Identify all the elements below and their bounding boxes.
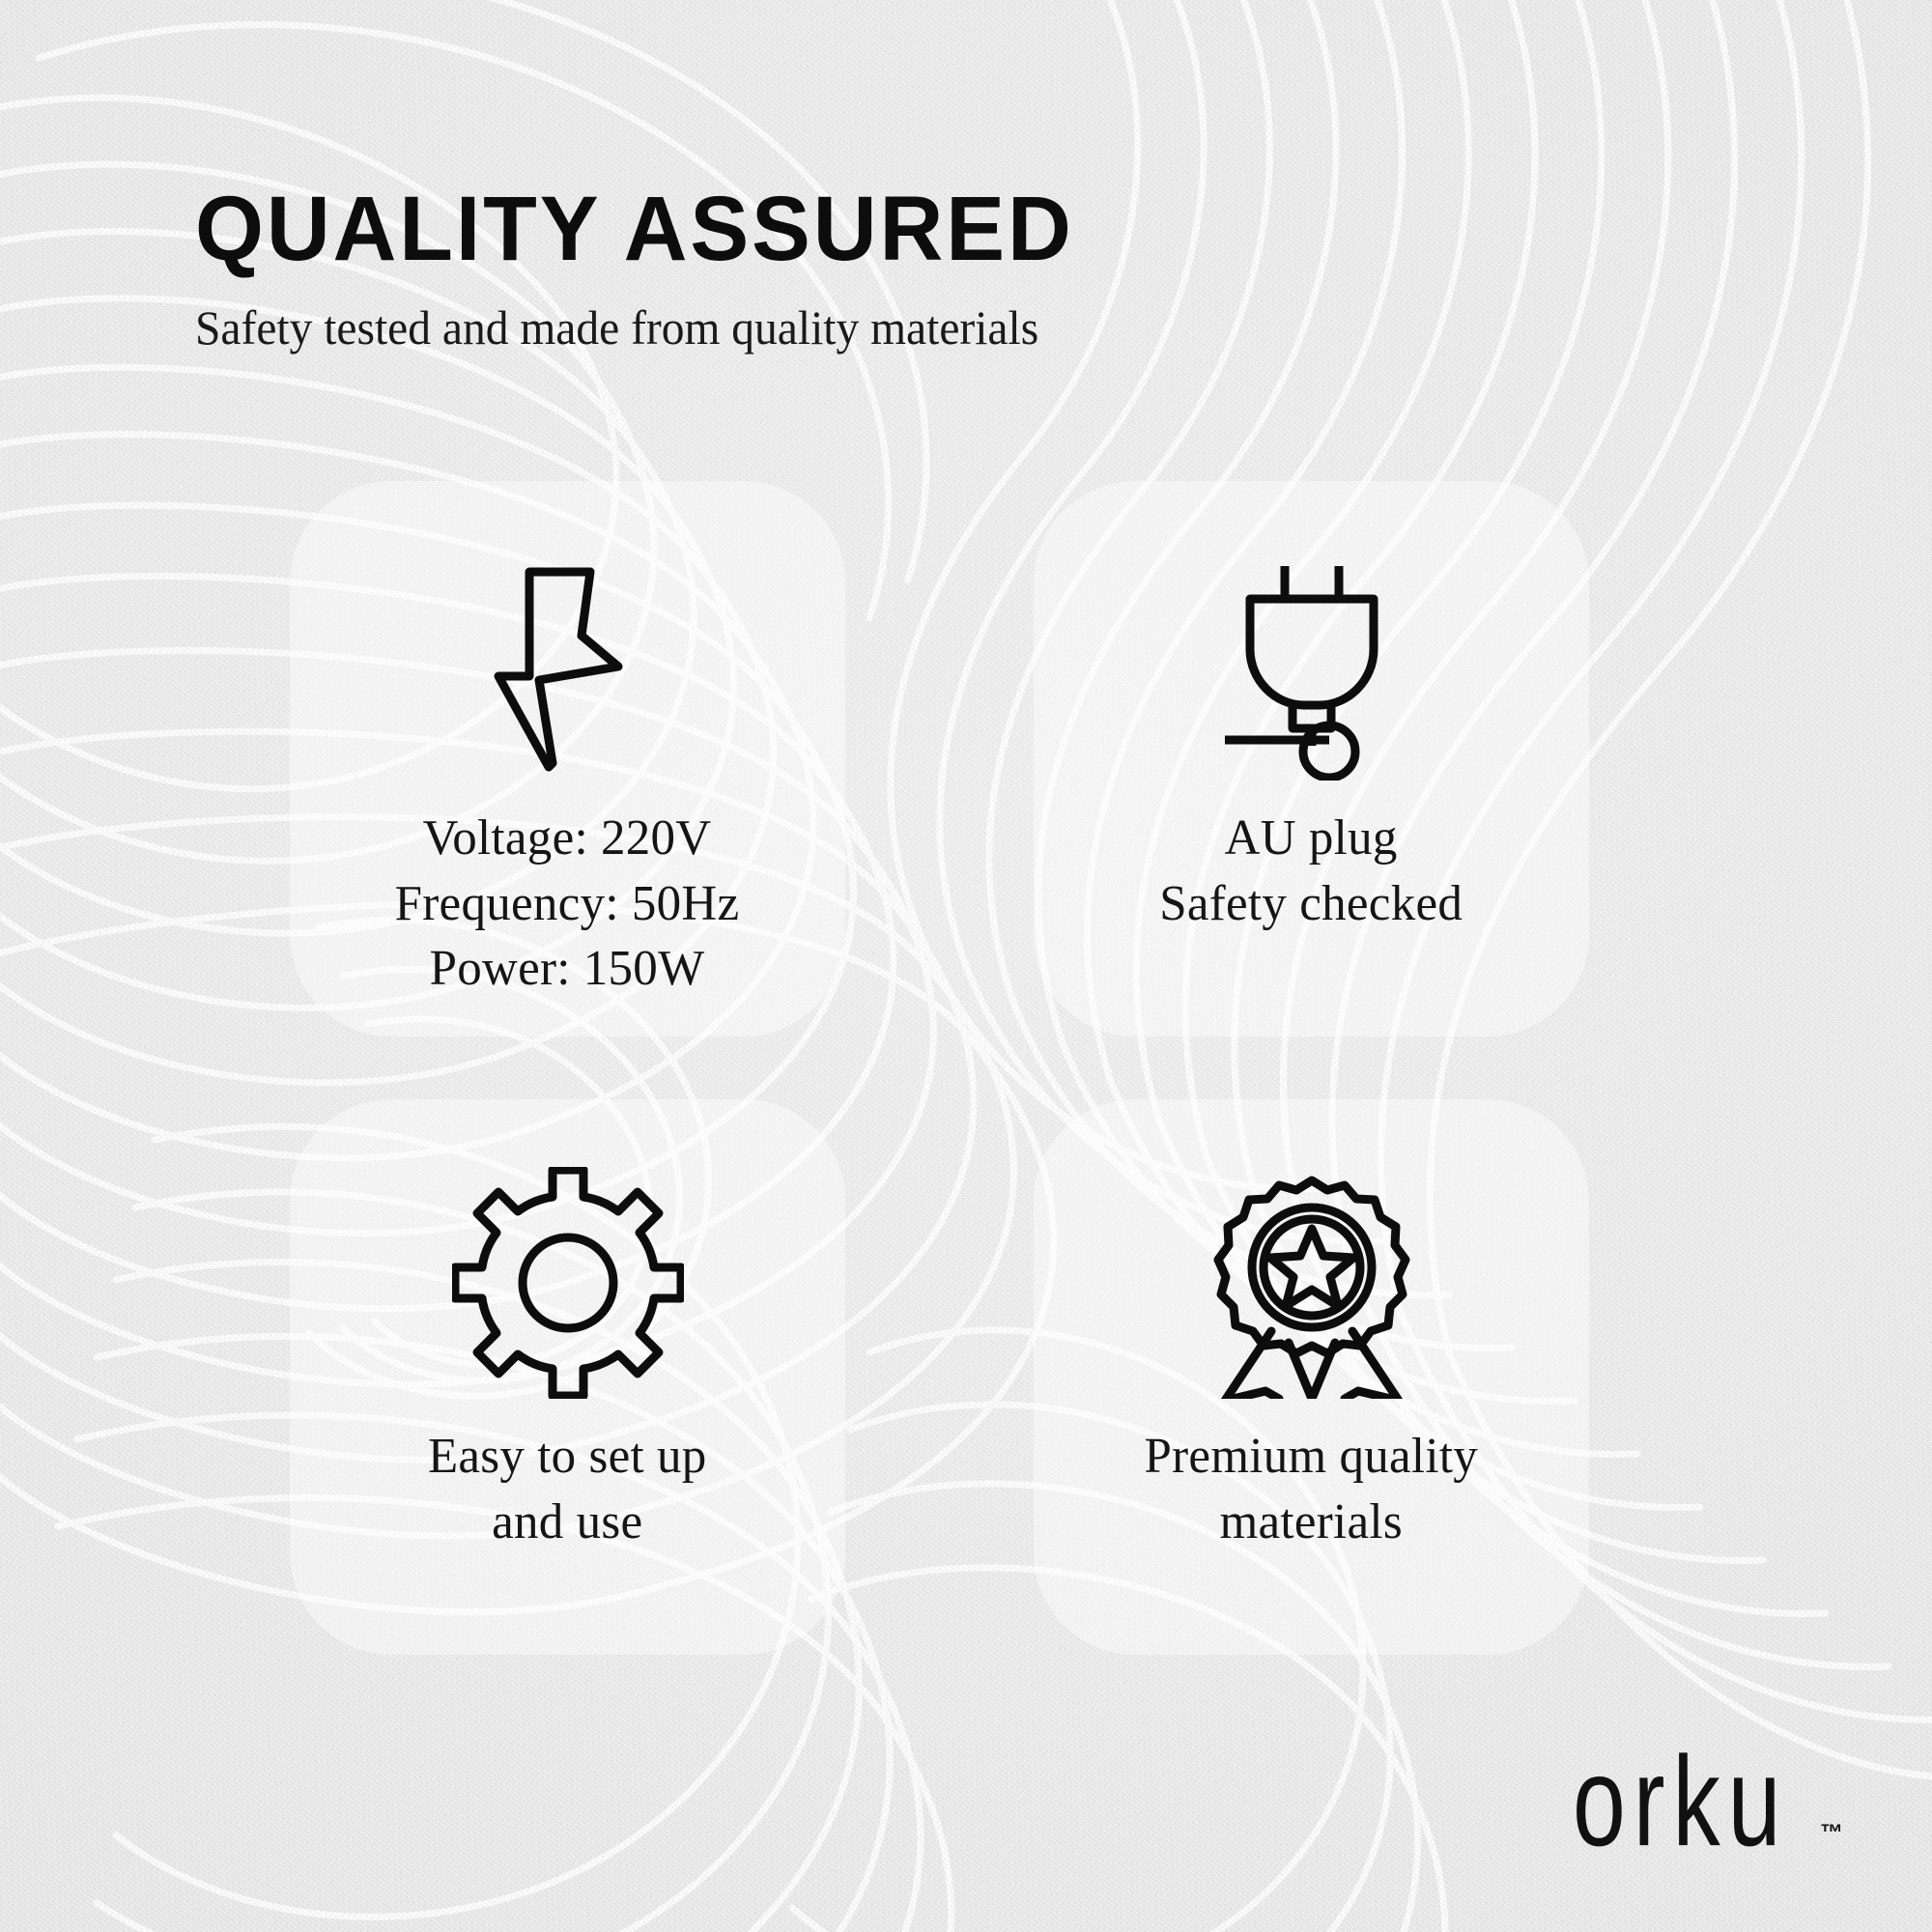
feature-card-electrical-specs: Voltage: 220V Frequency: 50Hz Power: 150… — [290, 481, 845, 1037]
page-subtitle: Safety tested and made from quality mate… — [195, 300, 1388, 356]
feature-card-premium-quality: Premium quality materials — [1034, 1099, 1589, 1655]
card-line: and use — [428, 1490, 707, 1555]
card-line: AU plug — [1160, 806, 1463, 871]
gear-icon — [452, 1167, 684, 1399]
lightning-bolt-icon — [452, 549, 684, 781]
card-line: Premium quality — [1145, 1424, 1479, 1490]
power-plug-icon — [1196, 549, 1428, 781]
card-text-easy-setup: Easy to set up and use — [428, 1424, 707, 1554]
award-ribbon-icon — [1196, 1167, 1428, 1399]
card-line: Safety checked — [1160, 871, 1463, 937]
feature-card-grid: Voltage: 220V Frequency: 50Hz Power: 150… — [290, 481, 1642, 1669]
header: QUALITY ASSURED Safety tested and made f… — [195, 184, 1451, 356]
infographic-canvas: QUALITY ASSURED Safety tested and made f… — [0, 0, 1932, 1932]
card-line: materials — [1145, 1490, 1479, 1555]
card-text-electrical-specs: Voltage: 220V Frequency: 50Hz Power: 150… — [395, 806, 740, 1002]
card-text-premium-quality: Premium quality materials — [1145, 1424, 1479, 1554]
feature-card-easy-setup: Easy to set up and use — [290, 1099, 845, 1655]
card-line: Easy to set up — [428, 1424, 707, 1490]
brand-logo: orku ™ — [1573, 1764, 1843, 1857]
card-line: Voltage: 220V — [395, 806, 740, 871]
card-text-au-plug: AU plug Safety checked — [1160, 806, 1463, 936]
card-line: Power: 150W — [395, 936, 740, 1002]
card-line: Frequency: 50Hz — [395, 871, 740, 937]
feature-card-au-plug: AU plug Safety checked — [1034, 481, 1589, 1037]
page-title: QUALITY ASSURED — [195, 184, 1401, 275]
trademark-symbol: ™ — [1820, 1820, 1843, 1847]
brand-name: orku — [1573, 1747, 1788, 1857]
